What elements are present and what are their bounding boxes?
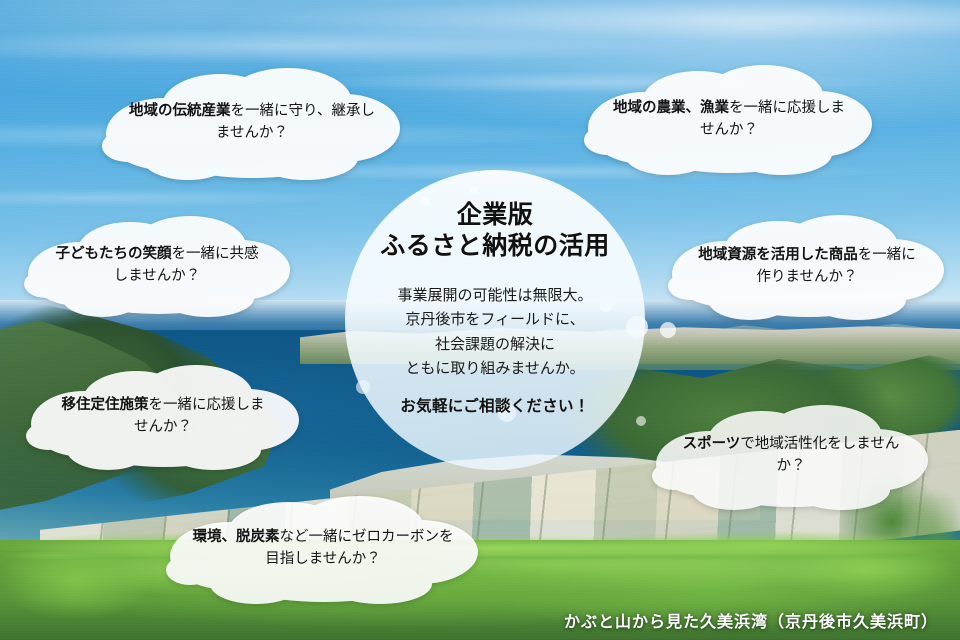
bubble-text: スポーツで地域活性化をしませんか？ xyxy=(680,433,902,478)
circle-body-line4: ともに取り組みませんか。 xyxy=(397,356,592,380)
circle-body-line2: 京丹後市をフィールドに、 xyxy=(397,307,592,331)
bubble-traditional-industry: 地域の伝統産業を一緒に守り、継承しませんか？ xyxy=(92,62,412,182)
bubble-bold-text: 地域の伝統産業 xyxy=(129,103,231,119)
bubble-rest-text: など一緒にゼロカーボンを目指しませんか？ xyxy=(265,529,453,567)
bubble-text: 地域の農業、漁業を一緒に応援しませんか？ xyxy=(612,97,846,142)
bubble-text: 地域の伝統産業を一緒に守り、継承しませんか？ xyxy=(126,100,378,145)
bubble-text: 移住定住施策を一緒に応援しませんか？ xyxy=(56,394,270,439)
bubble-text: 子どもたちの笑顔を一緒に共感しませんか？ xyxy=(52,243,262,288)
bubble-rest-text: を一緒に応援しませんか？ xyxy=(134,397,265,435)
photo-caption: かぶと山から見た久美浜湾（京丹後市久美浜町） xyxy=(564,608,938,632)
bubble-children-smiles: 子どもたちの笑顔を一緒に共感しませんか？ xyxy=(18,212,296,318)
circle-title-line2: ふるさと納税の活用 xyxy=(380,231,610,262)
circle-cta-text: お気軽にご相談ください！ xyxy=(400,394,589,416)
bubble-bold-text: 地域資源を活用した商品 xyxy=(698,247,858,263)
bubble-rest-text: で地域活性化をしませんか？ xyxy=(740,436,899,474)
main-message-circle: 企業版 ふるさと納税の活用 事業展開の可能性は無限大。 京丹後市をフィールドに、… xyxy=(345,170,645,470)
poster-canvas: 企業版 ふるさと納税の活用 事業展開の可能性は無限大。 京丹後市をフィールドに、… xyxy=(0,0,960,640)
bubble-bold-text: 地域の農業、漁業 xyxy=(613,100,729,116)
bubble-text: 地域資源を活用した商品を一緒に作りませんか？ xyxy=(696,244,918,289)
bubble-zero-carbon: 環境、脱炭素など一緒にゼロカーボンを目指しませんか？ xyxy=(158,492,488,604)
bubble-bold-text: 環境、脱炭素 xyxy=(193,529,280,545)
bubble-local-resources-products: 地域資源を活用した商品を一緒に作りませんか？ xyxy=(662,212,952,320)
bubble-bold-text: 移住定住施策 xyxy=(62,397,149,413)
bubble-rest-text: を一緒に守り、継承しませんか？ xyxy=(216,103,375,141)
circle-body-text: 事業展開の可能性は無限大。 京丹後市をフィールドに、 社会課題の解決に ともに取… xyxy=(397,283,592,380)
circle-title-line1: 企業版 xyxy=(380,200,610,231)
circle-body-line3: 社会課題の解決に xyxy=(397,332,592,356)
bubble-agriculture-fishery: 地域の農業、漁業を一緒に応援しませんか？ xyxy=(578,60,880,178)
circle-title: 企業版 ふるさと納税の活用 xyxy=(380,200,610,261)
bubble-migration-settlement: 移住定住施策を一緒に応援しませんか？ xyxy=(22,362,304,470)
bubble-text: 環境、脱炭素など一緒にゼロカーボンを目指しませんか？ xyxy=(192,526,454,571)
bubble-sports: スポーツで地域活性化をしませんか？ xyxy=(646,400,936,510)
bubble-bold-text: スポーツ xyxy=(683,436,741,452)
circle-body-line1: 事業展開の可能性は無限大。 xyxy=(397,283,592,307)
bubble-bold-text: 子どもたちの笑顔 xyxy=(56,246,172,262)
